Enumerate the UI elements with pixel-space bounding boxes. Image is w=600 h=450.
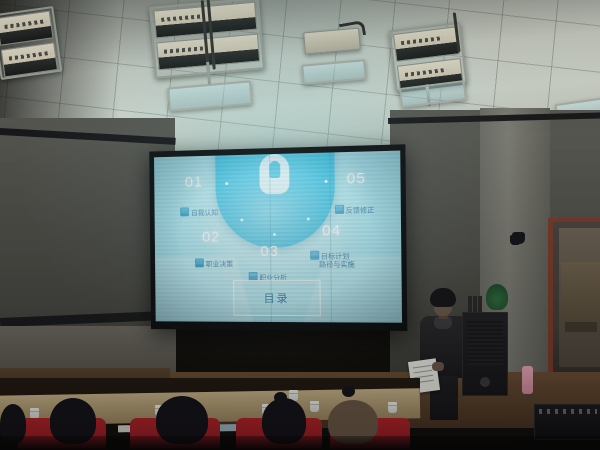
presentation-slide: 01 自我认知 02 职业决策 03 职业分析 04 目标计划路径与实施 05 …: [154, 151, 402, 323]
slide-label-04: 目标计划路径与实施: [310, 251, 355, 270]
screen-surface: 01 自我认知 02 职业决策 03 职业分析 04 目标计划路径与实施 05 …: [154, 151, 402, 323]
equipment-rack-left-edge: [0, 6, 62, 80]
head-lightbulb-icon: [259, 154, 289, 195]
stacked-chairs: [561, 262, 600, 322]
slide-dot: [272, 233, 275, 236]
left-wall-lower: [0, 326, 176, 372]
classroom-scene: 01 自我认知 02 职业决策 03 职业分析 04 目标计划路径与实施 05 …: [0, 0, 600, 450]
slide-number-01: 01: [185, 174, 203, 191]
slide-number-02: 02: [202, 229, 220, 246]
potted-plant: [486, 284, 508, 310]
book-icon: [180, 208, 189, 217]
slide-dot: [324, 180, 327, 183]
paper-cup: [310, 401, 319, 412]
hair-bun: [342, 386, 355, 397]
wall-camera-icon: [512, 232, 525, 244]
paper-cup: [388, 402, 397, 413]
speaker-grille: [467, 321, 503, 365]
slide-toc-label: 目录: [264, 290, 290, 306]
scale-icon: [195, 259, 204, 268]
slide-number-05: 05: [347, 170, 366, 188]
equipment-rack-left: [149, 0, 265, 79]
speaker-logo: [480, 377, 490, 387]
slide-number-04: 04: [322, 222, 341, 239]
slide-label-01: 自我认知: [180, 207, 218, 218]
hair-bun: [274, 392, 287, 403]
floor-speaker: [462, 312, 508, 396]
slide-label-02: 职业决策: [195, 258, 233, 269]
projection-screen: 01 自我认知 02 职业决策 03 职业分析 04 目标计划路径与实施 05 …: [149, 144, 407, 331]
balance-icon: [310, 251, 319, 260]
foreground-shadow: [0, 436, 600, 450]
presenter-hand: [432, 362, 444, 371]
slide-toc-box: 目录: [233, 280, 321, 316]
slide-label-05: 反馈修正: [334, 204, 374, 216]
wooden-door[interactable]: [548, 218, 600, 397]
presenter-hair: [430, 288, 456, 307]
balance-icon: [334, 205, 343, 214]
pink-thermos: [522, 366, 533, 394]
